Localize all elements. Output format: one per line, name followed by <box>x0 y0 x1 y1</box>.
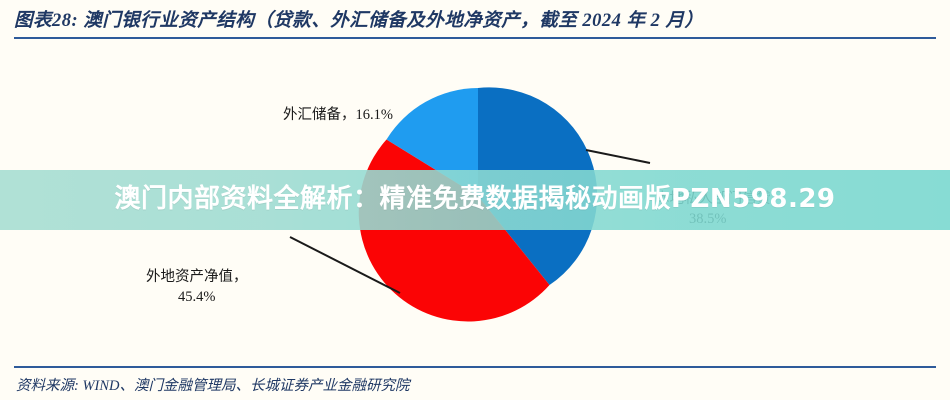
data-label-external-assets: 外地资产净值， 45.4% <box>146 268 248 307</box>
data-label-foreign-reserves-text: 外汇储备，16.1% <box>283 107 393 123</box>
figure-root: 图表28: 澳门银行业资产结构（贷款、外汇储备及外地净资产，截至 2024 年 … <box>0 0 950 400</box>
data-label-local-credit-value: 38.5% <box>655 210 786 230</box>
data-label-local-credit: 本地私人部门信贷， 38.5% <box>655 190 786 229</box>
chart-header: 图表28: 澳门银行业资产结构（贷款、外汇储备及外地净资产，截至 2024 年 … <box>14 4 936 40</box>
leader-line-local-credit <box>586 150 650 163</box>
source-note: 资料来源: WIND、澳门金融管理局、长城证券产业金融研究院 <box>16 374 410 395</box>
pie-chart <box>0 40 950 366</box>
page-title: 图表28: 澳门银行业资产结构（贷款、外汇储备及外地净资产，截至 2024 年 … <box>14 6 704 32</box>
chart-plot-area: 外汇储备，16.1% 本地私人部门信贷， 38.5% 外地资产净值， 45.4% <box>0 40 950 366</box>
data-label-local-credit-name: 本地私人部门信贷， <box>655 191 786 207</box>
title-divider <box>14 37 936 39</box>
data-label-external-assets-name: 外地资产净值， <box>146 269 248 285</box>
data-label-external-assets-value: 45.4% <box>146 288 248 308</box>
footer-divider <box>14 366 936 368</box>
data-label-foreign-reserves: 外汇储备，16.1% <box>283 106 393 126</box>
